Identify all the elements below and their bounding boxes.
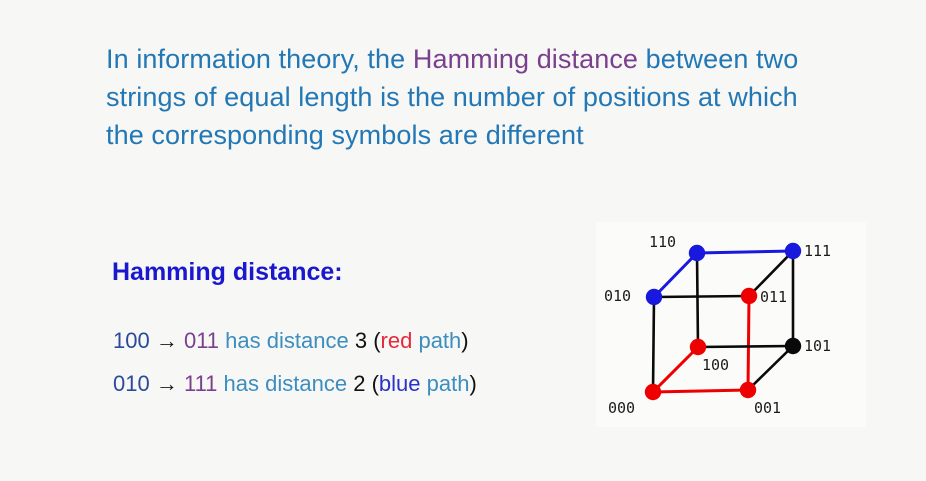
example-1-path-color-word: red [381,328,413,353]
cube-node-110 [689,245,705,261]
cube-edge-010-011 [654,296,749,297]
section-label-hamming-distance: Hamming distance: [112,258,343,287]
example-2-to: 111 [184,371,217,396]
cube-node-111 [785,243,801,259]
cube-edge-010-000 [653,297,654,392]
page-title: In information theory, the Hamming dista… [106,40,836,154]
heading-text-part1: In information theory, the [106,44,413,74]
example-2-path-color-word: blue [379,371,421,396]
cube-edge-100-000 [653,347,698,392]
example-1-from: 100 [113,328,150,353]
cube-node-label-111: 111 [804,242,831,260]
cube-edge-010-110 [654,253,697,297]
example-2-distance: 2 [353,371,365,396]
cube-node-001 [740,382,756,398]
cube-edge-001-101 [748,346,793,390]
cube-node-label-100: 100 [702,356,729,374]
heading-highlight-hamming-distance: Hamming distance [413,44,638,74]
cube-edge-110-111 [697,251,793,253]
cube-node-100 [690,339,706,355]
example-1-paren-close: ) [461,328,468,353]
cube-edge-110-100 [697,253,698,347]
cube-node-label-001: 001 [754,399,781,417]
cube-node-label-110: 110 [649,233,676,251]
cube-node-000 [645,384,661,400]
example-1-arrow-icon: → [156,328,178,353]
example-1-path-word: path [418,328,461,353]
cube-node-101 [785,338,801,354]
example-1-distance: 3 [355,328,367,353]
example-2-middle: has distance [224,371,348,396]
example-2-from: 010 [113,371,150,396]
slide-canvas: In information theory, the Hamming dista… [0,0,926,481]
hypercube-svg: 110111010011100101000001 [596,222,866,427]
example-2-paren-open: ( [372,371,379,396]
hypercube-diagram: 110111010011100101000001 [596,222,866,427]
cube-node-label-011: 011 [760,288,787,306]
example-2-path-word: path [427,371,470,396]
cube-node-label-010: 010 [604,287,631,305]
example-line-2: 010 → 111 has distance 2 (blue path) [113,371,477,397]
example-1-middle: has distance [225,328,349,353]
section-label-colon: : [334,258,342,286]
example-1-paren-open: ( [373,328,380,353]
cube-edge-100-101 [698,346,793,347]
cube-node-010 [646,289,662,305]
example-line-1: 100 → 011 has distance 3 (red path) [113,328,469,354]
example-2-paren-close: ) [469,371,476,396]
example-1-to: 011 [184,328,219,353]
cube-edge-001-011 [748,296,749,390]
cube-edge-000-001 [653,390,748,392]
cube-node-label-101: 101 [804,337,831,355]
cube-node-label-000: 000 [608,399,635,417]
section-label-text: Hamming distance [112,258,334,286]
cube-node-011 [741,288,757,304]
example-2-arrow-icon: → [156,371,178,396]
